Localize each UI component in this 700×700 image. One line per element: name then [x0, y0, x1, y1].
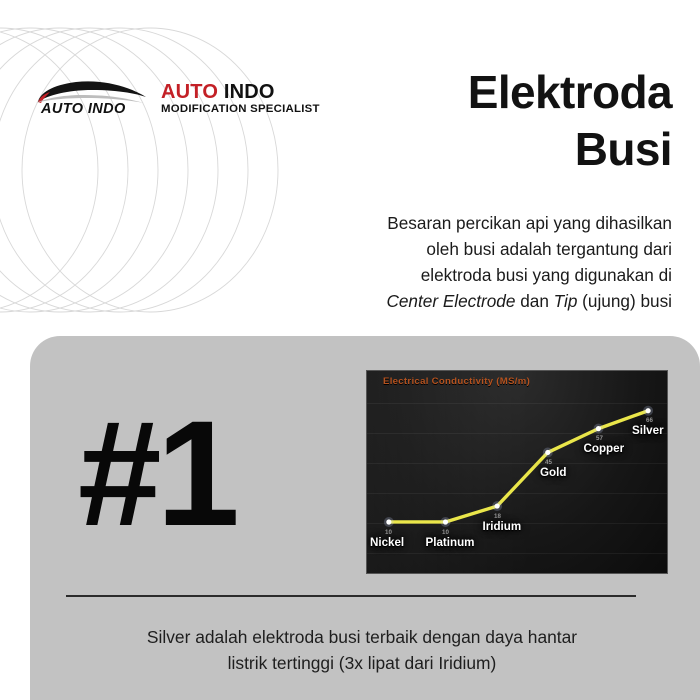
page-title: Elektroda Busi — [242, 64, 672, 177]
conductivity-chart: Electrical Conductivity (MS/m) 10Nickel1… — [366, 370, 668, 574]
caption-line-1: Silver adalah elektroda busi terbaik den… — [54, 624, 670, 650]
chart-point — [545, 450, 550, 455]
chart-point — [386, 519, 391, 524]
chart-point-value: 45 — [545, 459, 552, 466]
intro-line-4-tail: (ujung) busi — [577, 291, 672, 311]
intro-line-4: Center Electrode dan Tip (ujung) busi — [252, 288, 672, 314]
logo-mark-text: AUTO INDO — [41, 101, 126, 117]
conclusion-caption: Silver adalah elektroda busi terbaik den… — [54, 624, 670, 676]
chart-point-value: 18 — [494, 513, 501, 520]
intro-conjunction: dan — [515, 291, 553, 311]
page-title-line-2: Busi — [242, 121, 672, 178]
header-section: AUTO INDO AUTO INDO MODIFICATION SPECIAL… — [0, 0, 700, 335]
caption-line-2: listrik tertinggi (3x lipat dari Iridium… — [54, 650, 670, 676]
divider — [66, 595, 636, 597]
intro-emphasis-tip: Tip — [554, 291, 578, 311]
intro-line-3: elektroda busi yang digunakan di — [252, 262, 672, 288]
brand-name-auto: AUTO — [161, 81, 218, 103]
chart-point — [495, 504, 500, 509]
logo-mark: AUTO INDO — [30, 78, 152, 122]
intro-paragraph: Besaran percikan api yang dihasilkan ole… — [252, 210, 672, 315]
chart-point-value: 57 — [596, 435, 603, 442]
chart-point-label: Copper — [584, 442, 625, 455]
intro-emphasis-center-electrode: Center Electrode — [386, 291, 515, 311]
chart-point-label: Platinum — [426, 536, 475, 549]
chart-point-label: Silver — [632, 424, 664, 437]
chart-plot — [367, 371, 667, 574]
chart-line — [389, 411, 648, 522]
intro-line-2: oleh busi adalah tergantung dari — [252, 236, 672, 262]
chart-point-label: Nickel — [370, 536, 404, 549]
chart-point-value: 66 — [646, 417, 653, 424]
chart-point — [443, 519, 448, 524]
chart-point-value: 10 — [442, 529, 449, 536]
chart-point — [596, 426, 601, 431]
intro-line-1: Besaran percikan api yang dihasilkan — [252, 210, 672, 236]
content-panel: #1 Electrical Conductivity (MS/m) 10Nick… — [30, 336, 700, 700]
rank-badge: #1 — [78, 398, 235, 548]
chart-point-value: 10 — [385, 529, 392, 536]
chart-point — [646, 408, 651, 413]
page-title-line-1: Elektroda — [242, 64, 672, 121]
chart-point-label: Iridium — [483, 520, 522, 533]
chart-point-label: Gold — [540, 466, 566, 479]
